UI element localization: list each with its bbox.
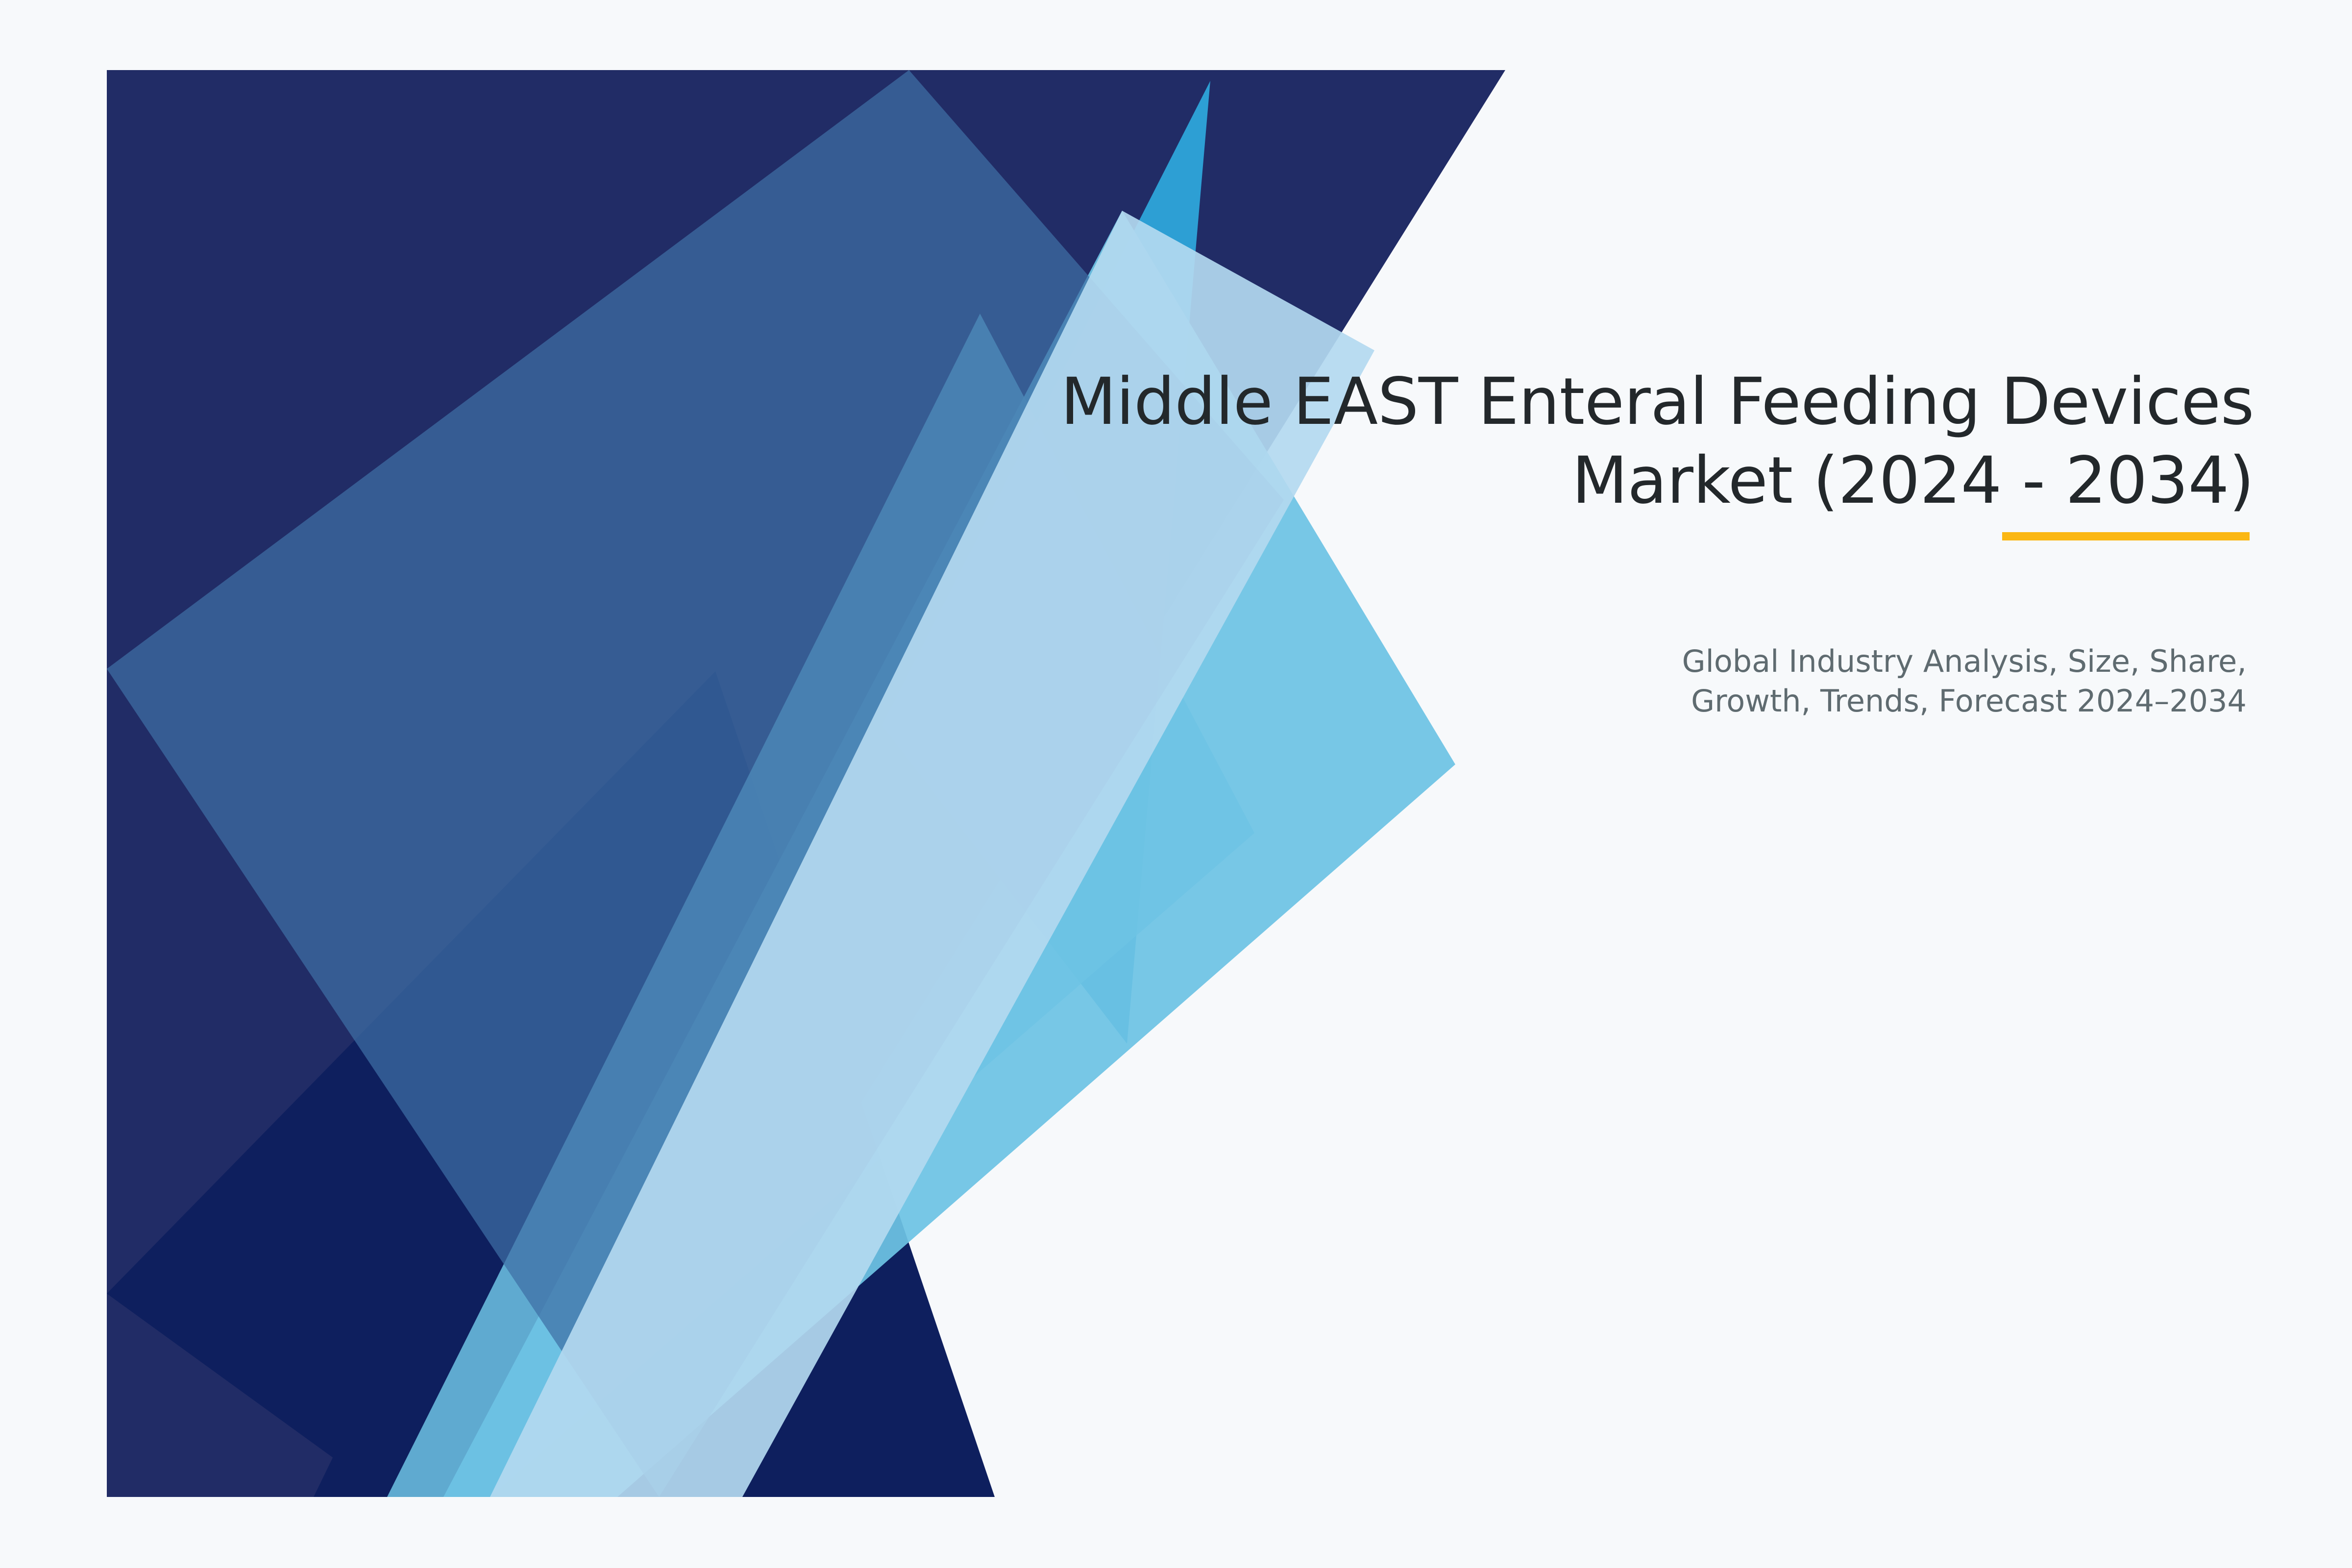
title-accent-bar: [2002, 532, 2250, 540]
shape-mid-blue-spike: [882, 81, 1210, 1044]
title-block: Middle EAST Enteral Feeding Devices Mark…: [784, 363, 2254, 520]
report-subtitle: Global Industry Analysis, Size, Share, G…: [784, 642, 2247, 721]
shape-navy-top: [107, 70, 1505, 1497]
shape-deep-navy-spike: [314, 671, 715, 1497]
shape-slate-quad: [107, 70, 1284, 1497]
shape-deep-navy-band: [107, 671, 995, 1497]
cover-artwork: [0, 0, 2352, 1568]
report-title: Middle EAST Enteral Feeding Devices Mark…: [784, 363, 2254, 520]
cover-page: Middle EAST Enteral Feeding Devices Mark…: [0, 0, 2352, 1568]
